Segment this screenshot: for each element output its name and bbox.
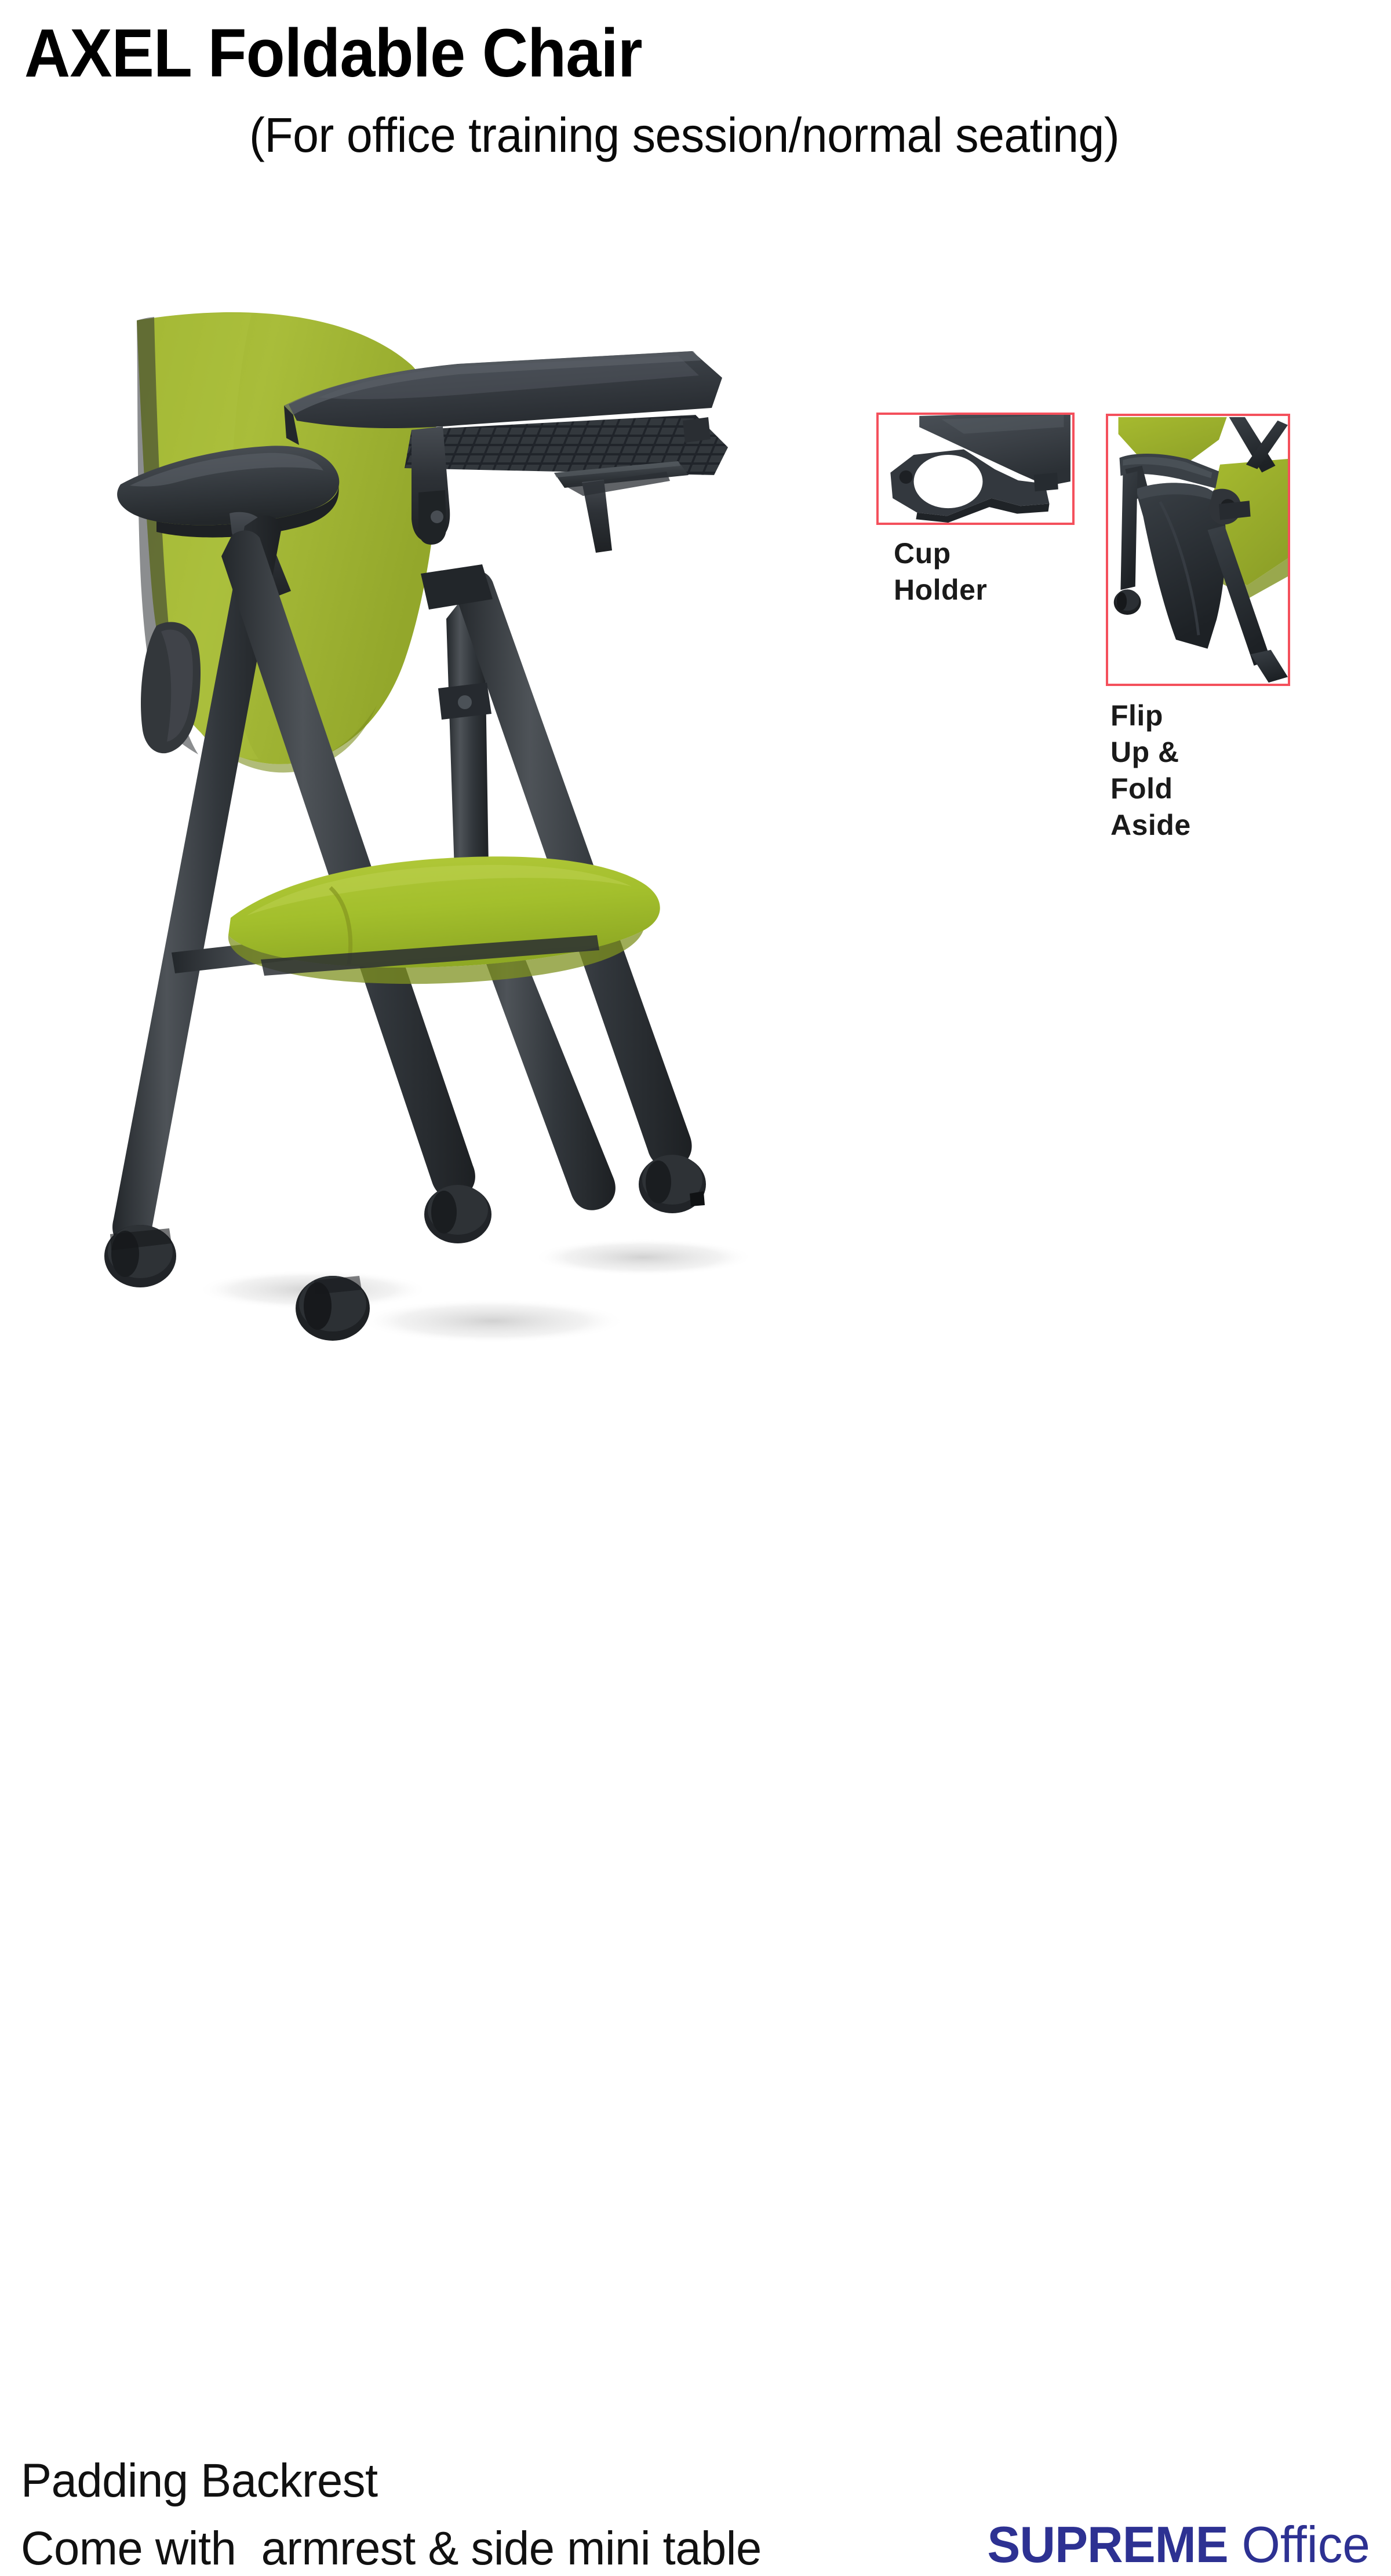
feature-text-armrest-table: Come with armrest & side mini table	[21, 2522, 762, 2576]
callout-cup-holder-label: Cup Holder	[894, 535, 987, 608]
footer: Padding Backrest Come with armrest & sid…	[0, 1205, 1391, 1391]
hinge-arm	[1219, 501, 1251, 520]
cup-hole	[914, 455, 983, 508]
brand-logo: SUPREME Office	[988, 2519, 1370, 2570]
board-right-foot	[1034, 473, 1058, 492]
castor-wheel	[639, 1155, 706, 1213]
product-photo	[87, 301, 800, 1356]
tablet-stopper	[683, 417, 711, 443]
feature-text-padding-backrest: Padding Backrest	[21, 2454, 378, 2508]
callout-cup-holder-image	[876, 413, 1075, 525]
frame-hinge-pin	[458, 695, 472, 709]
header: AXEL Foldable Chair (For office training…	[0, 0, 1391, 197]
page-title: AXEL Foldable Chair	[24, 16, 642, 92]
callout-flip-up-label: Flip Up & Fold Aside	[1110, 698, 1191, 844]
product-subtitle: (For office training session/normal seat…	[249, 107, 1119, 163]
brand-name-supreme: SUPREME	[988, 2516, 1228, 2573]
callout-flip-up-image	[1106, 414, 1290, 686]
brand-name-office: Office	[1228, 2516, 1370, 2573]
leg-left	[1120, 471, 1137, 590]
tablet-hinge-pin	[431, 510, 443, 523]
mount-nub	[900, 470, 913, 484]
